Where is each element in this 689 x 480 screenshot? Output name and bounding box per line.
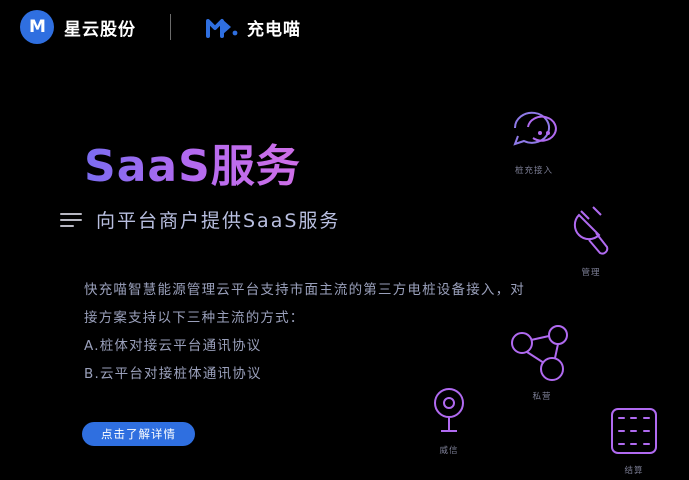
brand-right[interactable]: 充电喵 bbox=[205, 15, 301, 40]
top-bar: M 星云股份 充电喵 bbox=[0, 0, 689, 54]
feature-scan: 威信 bbox=[406, 380, 492, 456]
feature-share: 私营 bbox=[499, 326, 585, 402]
feature-label: 管理 bbox=[548, 266, 634, 278]
feature-chat-access: 桩充接入 bbox=[491, 100, 577, 176]
feature-calculator: 结算 bbox=[591, 400, 677, 476]
body-line: 快充喵智慧能源管理云平台支持市面主流的第三方电桩设备接入，对 bbox=[84, 276, 584, 304]
subtitle-row: 向平台商户提供SaaS服务 bbox=[60, 206, 340, 233]
feature-label: 桩充接入 bbox=[491, 164, 577, 176]
calculator-icon bbox=[591, 400, 677, 462]
power-plug-icon bbox=[548, 202, 634, 264]
scan-ring-icon bbox=[406, 380, 492, 442]
learn-more-button[interactable]: 点击了解详情 bbox=[82, 422, 195, 446]
brand-left[interactable]: M 星云股份 bbox=[20, 10, 136, 44]
share-nodes-icon bbox=[499, 326, 585, 388]
hero-section: SaaS服务 向平台商户提供SaaS服务 快充喵智慧能源管理云平台支持市面主流的… bbox=[0, 54, 689, 480]
feature-label: 结算 bbox=[591, 464, 677, 476]
feature-label: 威信 bbox=[406, 444, 492, 456]
nebula-logo-glyph: M bbox=[29, 19, 45, 36]
page-subtitle: 向平台商户提供SaaS服务 bbox=[96, 206, 340, 233]
hamburger-menu-icon[interactable] bbox=[60, 213, 82, 227]
feature-plug: 管理 bbox=[548, 202, 634, 278]
chargemiao-logo-icon bbox=[205, 15, 239, 39]
header-divider bbox=[170, 14, 171, 40]
page-title: SaaS服务 bbox=[84, 130, 301, 194]
nebula-circle-logo-icon: M bbox=[20, 10, 54, 44]
brand-right-label: 充电喵 bbox=[247, 15, 301, 40]
chat-bubbles-icon bbox=[491, 100, 577, 162]
brand-left-label: 星云股份 bbox=[64, 15, 136, 40]
